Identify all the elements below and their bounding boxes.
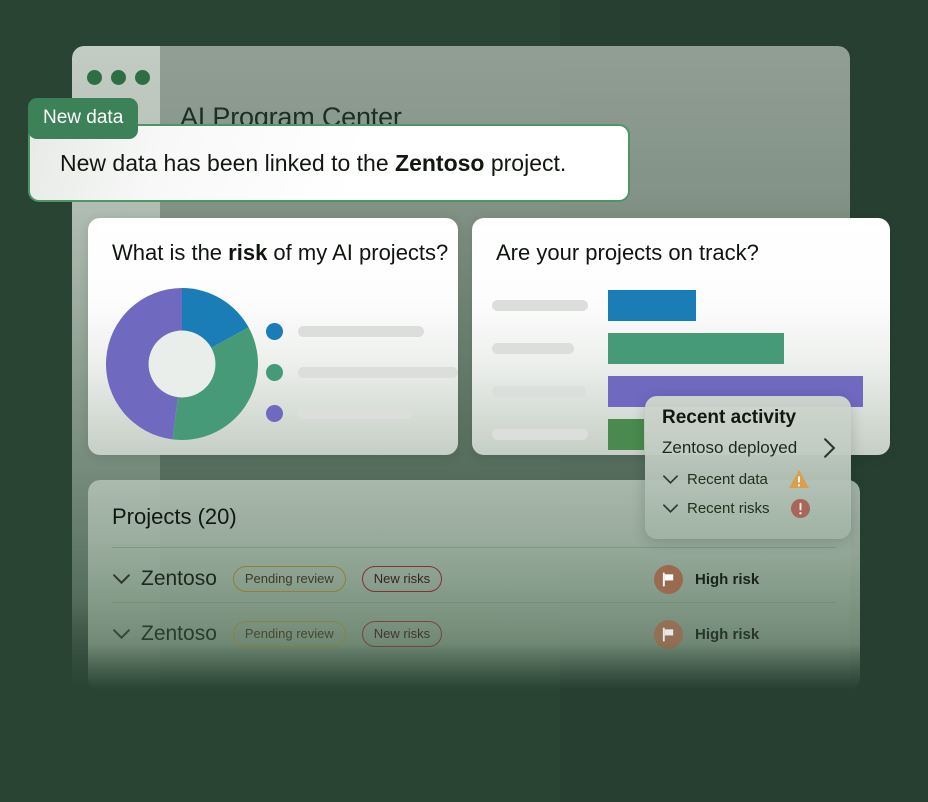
- flag-glyph-icon: [661, 627, 676, 642]
- risk-level-label: High risk: [695, 571, 759, 588]
- donut-hole: [149, 331, 216, 398]
- legend-dot-icon: [266, 405, 283, 422]
- risk-cell: High risk: [654, 620, 759, 649]
- chevron-down-icon[interactable]: [112, 573, 131, 585]
- legend-label-placeholder: [298, 408, 412, 419]
- recent-risks-row[interactable]: Recent risks: [662, 498, 811, 519]
- status-badge-new-risks[interactable]: New risks: [362, 621, 442, 647]
- risk-level-label: High risk: [695, 626, 759, 643]
- legend-item: [266, 323, 458, 340]
- bar[interactable]: [608, 419, 644, 450]
- toast-message: New data has been linked to the Zentoso …: [60, 150, 566, 177]
- warning-triangle-icon: [788, 469, 810, 489]
- legend-dot-icon: [266, 323, 283, 340]
- project-name: Zentoso: [141, 622, 217, 646]
- recent-activity-title: Recent activity: [662, 407, 796, 429]
- risk-chart-card[interactable]: What is the risk of my AI projects?: [88, 218, 458, 455]
- recent-data-label: Recent data: [687, 471, 768, 488]
- minimize-dot-icon[interactable]: [111, 70, 126, 85]
- risk-legend: [266, 323, 458, 422]
- risk-donut-chart[interactable]: [106, 288, 258, 445]
- flag-icon: [654, 565, 683, 594]
- legend-item: [266, 405, 458, 422]
- risk-title-bold: risk: [228, 240, 267, 265]
- zentoso-deployed-label: Zentoso deployed: [662, 438, 797, 458]
- risk-card-title: What is the risk of my AI projects?: [112, 240, 448, 266]
- legend-label-placeholder: [298, 367, 458, 378]
- status-badge-pending-review[interactable]: Pending review: [233, 621, 346, 647]
- bar-category-label-placeholder: [486, 429, 608, 440]
- chevron-down-icon[interactable]: [662, 474, 679, 485]
- flag-icon: [654, 620, 683, 649]
- projects-panel-title: Projects (20): [112, 504, 237, 530]
- bar-category-label-placeholder: [486, 343, 608, 354]
- legend-label-placeholder: [298, 326, 424, 337]
- toast-badge: New data: [28, 98, 138, 139]
- track-card-title: Are your projects on track?: [496, 240, 759, 266]
- bar-category-label-placeholder: [486, 386, 608, 397]
- toast-message-suffix: project.: [484, 150, 566, 176]
- risk-title-prefix: What is the: [112, 240, 228, 265]
- toast-message-prefix: New data has been linked to the: [60, 150, 395, 176]
- status-badge-new-risks[interactable]: New risks: [362, 566, 442, 592]
- window-traffic-lights[interactable]: [87, 70, 150, 85]
- legend-dot-icon: [266, 364, 283, 381]
- risk-cell: High risk: [654, 565, 759, 594]
- recent-activity-popover[interactable]: Recent activity Zentoso deployed Recent …: [645, 396, 851, 539]
- projects-header-divider: [112, 547, 836, 548]
- chevron-down-icon[interactable]: [112, 628, 131, 640]
- chevron-right-icon: [822, 437, 837, 459]
- status-badge-pending-review[interactable]: Pending review: [233, 566, 346, 592]
- zentoso-deployed-link[interactable]: Zentoso deployed: [662, 437, 837, 459]
- error-circle-icon: [790, 498, 811, 519]
- recent-risks-label: Recent risks: [687, 500, 770, 517]
- project-name: Zentoso: [141, 567, 217, 591]
- flag-glyph-icon: [661, 572, 676, 587]
- toast-message-project: Zentoso: [395, 150, 484, 176]
- legend-item: [266, 364, 458, 381]
- close-dot-icon[interactable]: [87, 70, 102, 85]
- donut-svg: [106, 288, 258, 440]
- risk-title-suffix: of my AI projects?: [267, 240, 448, 265]
- bar-row: [486, 284, 878, 327]
- bar[interactable]: [608, 333, 784, 364]
- recent-data-row[interactable]: Recent data: [662, 469, 810, 489]
- projects-row-divider: [112, 602, 836, 603]
- bar-row: [486, 327, 878, 370]
- bar[interactable]: [608, 290, 696, 321]
- table-row[interactable]: Zentoso Pending review New risks High ri…: [112, 613, 836, 655]
- chevron-down-icon[interactable]: [662, 503, 679, 514]
- table-row[interactable]: Zentoso Pending review New risks High ri…: [112, 558, 836, 600]
- maximize-dot-icon[interactable]: [135, 70, 150, 85]
- bar-category-label-placeholder: [486, 300, 608, 311]
